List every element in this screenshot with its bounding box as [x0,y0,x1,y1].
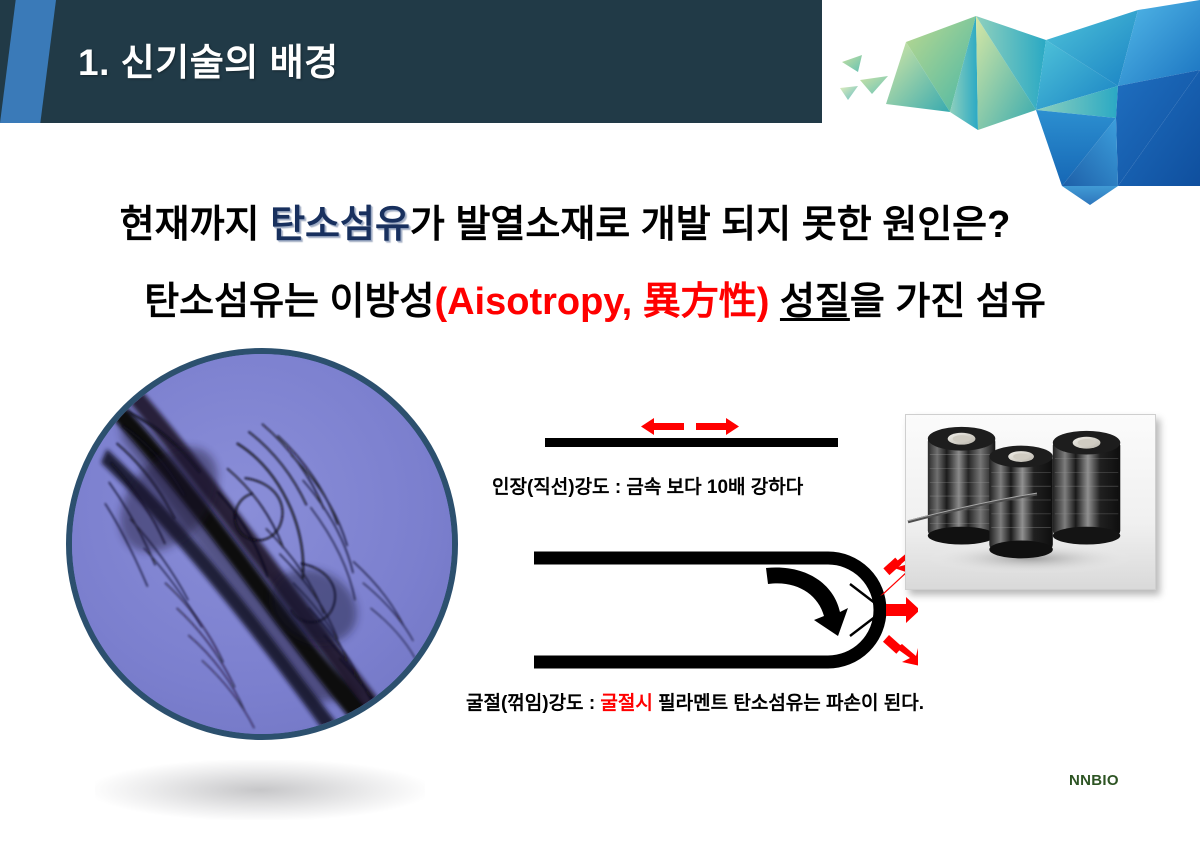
bend-caption-part1: 굴절(꺾임)강도 : [466,693,600,714]
headline-line-2: 탄소섬유는 이방성(Aisotropy, 異方性) 성질을 가진 섬유 [0,270,1190,325]
headline1-part2: 가 발열소재로 개발 되지 못한 원인은? [410,204,1010,246]
headline2-space [769,281,780,323]
bend-fiber-diagram [528,540,918,680]
micrograph-drop-shadow [95,760,425,820]
bend-caption-part2: 필라멘트 탄소섬유는 파손이 된다. [653,693,924,714]
headline1-part1: 현재까지 [120,204,270,246]
headline1-highlight: 탄소섬유 [270,204,410,246]
slide-root: 1. 신기술의 배경 현재까지 탄소섬유가 발열소재로 개발 되지 못한 원인은… [0,0,1200,850]
tensile-caption: 인장(직선)강도 : 금속 보다 10배 강하다 [492,472,803,499]
page-title: 1. 신기술의 배경 [78,32,339,86]
headline-line-1: 현재까지 탄소섬유가 발열소재로 개발 되지 못한 원인은? [0,193,1130,248]
headline2-part1: 탄소섬유는 이방성 [144,281,434,323]
polygon-decoration-graphic [800,0,1200,205]
carbon-fiber-micrograph-image [66,348,458,740]
headline2-red-term: (Aisotropy, 異方性) [434,281,769,323]
tensile-fiber-bar [545,438,838,447]
bend-caption-highlight: 굴절시 [600,693,652,714]
tensile-arrows-icon [640,417,740,439]
bend-caption: 굴절(꺾임)강도 : 굴절시 필라멘트 탄소섬유는 파손이 된다. [466,688,924,715]
headline2-underlined-term: 성질 [780,281,850,323]
carbon-fiber-bobbins-photo [905,414,1156,590]
nnbio-logo: NNBIO [1069,772,1119,789]
headline2-part2: 을 가진 섬유 [850,281,1046,323]
